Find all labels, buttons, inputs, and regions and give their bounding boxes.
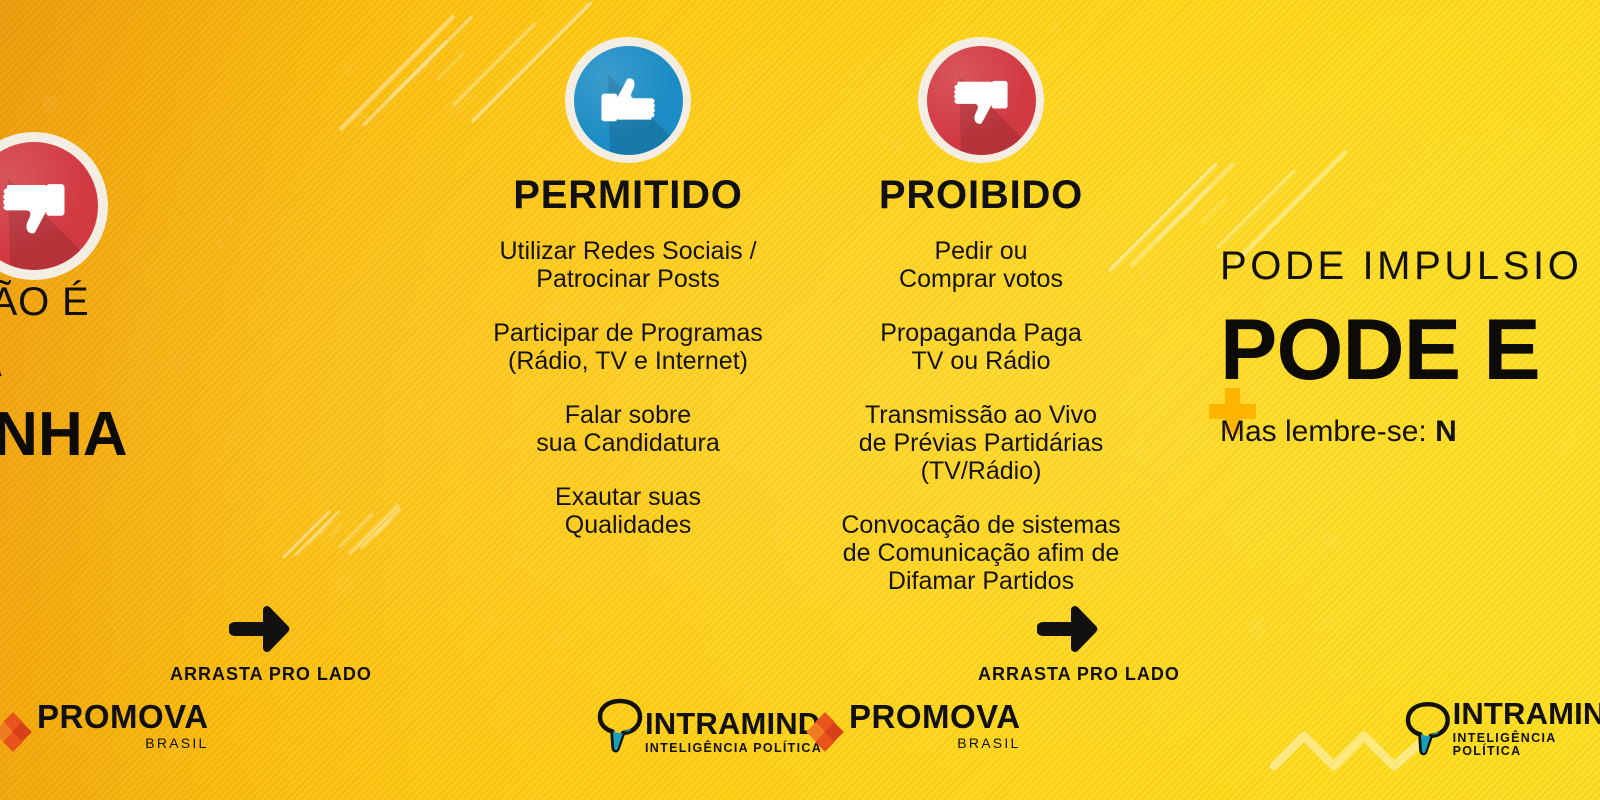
right-note-bold: N [1435,415,1457,448]
slide-canvas: QUE NÃO É IDO NA MPANHA PERMITIDO Utiliz… [0,0,1600,800]
promova-sub: BRASIL [849,736,1021,750]
panel-proibido: PROIBIDO Pedir ouComprar votosPropaganda… [793,175,1169,595]
arrow-right-icon [1037,605,1099,653]
panel-proibido-thumbs-down-badge [918,37,1044,163]
badge-long-shadow [927,46,1036,155]
list-item-line: Falar sobre [440,401,816,429]
list-item-line: TV ou Rádio [793,347,1169,375]
background-dot [499,781,516,798]
background-dot [1509,127,1522,140]
background-dot [732,104,738,110]
logo-intramind-right: INTRAMIND INTELIGÊNCIA POLÍTICA [1405,698,1600,757]
logo-promova-center: PROMOVA BRASIL [808,700,1021,750]
background-dot [890,139,903,152]
background-dot [1506,511,1511,516]
background-dot [1330,33,1336,39]
list-item-line: Participar de Programas [440,319,816,347]
background-dot [1179,123,1183,127]
list-item: Utilizar Redes Sociais /Patrocinar Posts [440,237,816,293]
background-dot [1234,789,1241,796]
panel-proibido-items: Pedir ouComprar votosPropaganda PagaTV o… [793,237,1169,595]
panel-right-text: PODE IMPULSIO PODE E Mas lembre-se: N [1220,244,1600,449]
background-dot [528,790,545,800]
decorative-hatch-mid-left [288,478,398,573]
hatch-stroke [330,524,344,538]
background-dot [1494,644,1496,646]
promova-diamond-mark [0,716,30,750]
list-item: Pedir ouComprar votos [793,237,1169,293]
left-headline-line3: MPANHA [0,404,380,466]
background-dot [24,549,29,554]
hatch-stroke [1200,196,1229,225]
list-item: Propaganda PagaTV ou Rádio [793,319,1169,375]
list-item-line: de Prévias Partidárias [793,429,1169,457]
right-note: Mas lembre-se: N [1220,415,1600,449]
right-kicker: PODE IMPULSIO [1220,244,1600,289]
background-dot [1057,103,1069,115]
background-dot [1432,179,1436,183]
background-dot [329,720,344,735]
background-dot [1154,766,1156,768]
background-dot [513,552,528,567]
thumbs-down-icon [947,66,1015,134]
background-dot [745,679,755,689]
list-item-line: Qualidades [440,511,816,539]
panel-proibido-title: PROIBIDO [793,175,1169,215]
list-item: Exautar suasQualidades [440,483,816,539]
background-dot [200,244,205,249]
list-item: Convocação de sistemasde Comunicação afi… [793,511,1169,595]
intramind-speech-bubble-icon [1405,701,1451,757]
background-dot [876,672,878,674]
background-dot [928,42,930,44]
panel-left-text: QUE NÃO É IDO NA MPANHA [0,280,380,466]
background-dot [1573,671,1584,682]
background-dot [1313,792,1322,800]
background-dot [202,582,214,594]
background-dot [733,583,742,592]
background-dot [1463,689,1468,694]
background-dot [1198,441,1205,448]
intramind-speech-bubble-icon [597,698,643,754]
promova-word: PROMOVA [849,700,1021,733]
background-dot [1369,712,1384,727]
background-dot [482,613,499,630]
background-dot [613,163,616,166]
background-dot [844,88,852,96]
background-dot [1526,486,1540,500]
badge-long-shadow [574,46,683,155]
list-item-line: Propaganda Paga [793,319,1169,347]
panel-left-thumbs-down-badge [0,132,108,280]
swipe-cue-right-label: ARRASTA PRO LADO [978,664,1158,685]
background-dot [135,133,142,140]
background-dot [338,107,341,110]
background-dot [42,95,58,111]
background-dot [1526,118,1531,123]
intramind-wordmark: INTRAMIND INTELIGÊNCIA POLÍTICA [1453,698,1600,757]
swipe-cue-left[interactable]: ARRASTA PRO LADO [170,605,350,685]
panel-permitido-thumbs-up-badge [565,37,691,163]
background-dot [1557,23,1561,27]
intramind-sub: INTELIGÊNCIA POLÍTICA [1453,732,1600,757]
left-headline-line2: IDO NA [0,341,380,386]
background-dot [217,242,225,250]
list-item-line: Comprar votos [793,265,1169,293]
promova-wordmark: PROMOVA BRASIL [849,700,1021,750]
thumbs-up-icon [594,66,662,134]
hatch-stroke [339,14,456,131]
list-item-line: de Comunicação afim de [793,539,1169,567]
background-dot [562,770,568,776]
background-dot [107,673,117,683]
background-dot [1547,79,1558,90]
list-item-line: Convocação de sistemas [793,511,1169,539]
background-dot [226,215,234,223]
background-dot [336,576,354,594]
list-item-line: Pedir ou [793,237,1169,265]
background-dot [879,133,888,142]
intramind-word: INTRAMIND [1453,698,1600,729]
background-dot [967,685,970,688]
background-dot [908,609,910,611]
list-item: Transmissão ao Vivode Prévias Partidária… [793,401,1169,485]
list-item-line: Transmissão ao Vivo [793,401,1169,429]
background-dot [1542,563,1548,569]
swipe-cue-right[interactable]: ARRASTA PRO LADO [978,605,1158,685]
promova-word: PROMOVA [37,700,209,733]
background-dot [388,334,398,344]
background-dot [663,675,666,678]
background-dot [1265,767,1267,769]
panel-permitido: PERMITIDO Utilizar Redes Sociais /Patroc… [440,175,816,539]
list-item-line: sua Candidatura [440,429,816,457]
background-dot [1249,620,1267,638]
left-headline-line1: QUE NÃO É [0,280,380,325]
intramind-wordmark: INTRAMIND INTELIGÊNCIA POLÍTICA [645,708,822,755]
arrow-right-icon [229,605,291,653]
background-dot [1303,699,1308,704]
background-dot [1050,23,1061,34]
intramind-sub: INTELIGÊNCIA POLÍTICA [645,742,822,755]
swipe-cue-left-label: ARRASTA PRO LADO [170,664,350,685]
background-dot [963,24,973,34]
background-dot [538,767,549,778]
intramind-word: INTRAMIND [645,708,822,739]
list-item-line: (Rádio, TV e Internet) [440,347,816,375]
promova-wordmark: PROMOVA BRASIL [37,700,209,750]
background-dot [1324,615,1336,627]
list-item-line: Utilizar Redes Sociais / [440,237,816,265]
thumbs-down-icon [0,167,73,245]
background-dot [322,142,334,154]
background-dot [263,485,269,491]
background-dot [1044,65,1047,68]
background-dot [248,738,258,748]
background-dot [475,747,480,752]
background-dot [230,189,238,197]
background-dot [1092,158,1097,163]
background-dot [359,602,361,604]
list-item: Participar de Programas(Rádio, TV e Inte… [440,319,816,375]
background-dot [225,528,235,538]
logo-intramind-center: INTRAMIND INTELIGÊNCIA POLÍTICA [597,698,822,754]
panel-permitido-items: Utilizar Redes Sociais /Patrocinar Posts… [440,237,816,539]
right-headline: PODE E [1220,307,1600,393]
list-item-line: Difamar Partidos [793,567,1169,595]
background-dot [1024,711,1029,716]
decorative-hatch-top-left [352,0,522,156]
list-item: Falar sobresua Candidatura [440,401,816,457]
background-dot [1101,36,1114,49]
background-dot [1321,533,1337,549]
background-dot [1475,27,1487,39]
list-item-line: Patrocinar Posts [440,265,816,293]
promova-sub: BRASIL [37,736,209,750]
background-dot [1418,63,1424,69]
background-dot [1326,102,1337,113]
list-item-line: Exautar suas [440,483,816,511]
background-dot [612,8,624,20]
logo-promova-left: PROMOVA BRASIL [0,700,209,750]
background-dot [412,394,426,408]
hatch-stroke [436,51,467,82]
left-headline-line2-rest: NA [0,341,3,385]
background-dot [1420,230,1424,234]
list-item-line: (TV/Rádio) [793,457,1169,485]
background-dot [550,630,564,644]
promova-diamond-mark [808,716,842,750]
right-note-prefix: Mas lembre-se: [1220,415,1435,448]
badge-long-shadow [0,142,98,270]
panel-permitido-title: PERMITIDO [440,175,816,215]
hatch-stroke [282,510,331,559]
